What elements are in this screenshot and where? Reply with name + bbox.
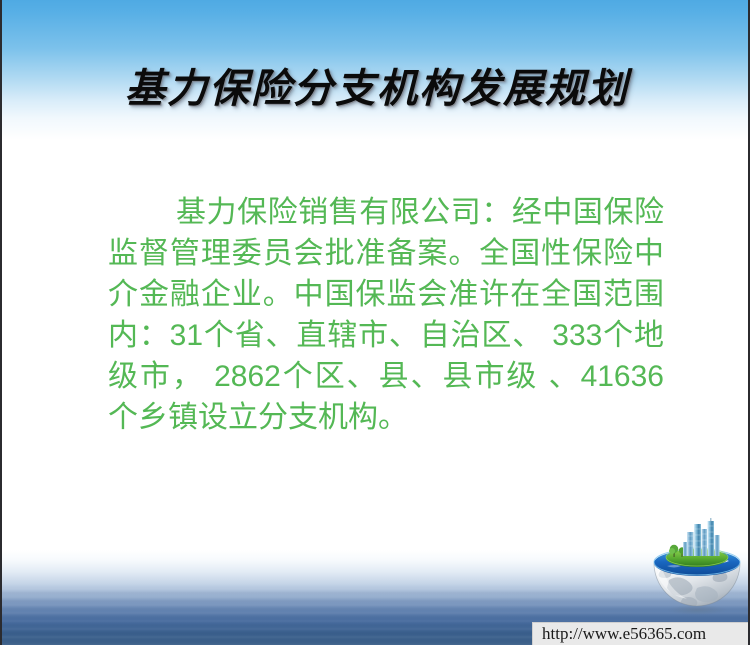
slide-title: 基力保险分支机构发展规划 [2, 56, 750, 114]
slide-body-text: 基力保险销售有限公司：经中国保险监督管理委员会批准备案。全国性保险中介金融企业。… [108, 192, 664, 438]
watermark-url: http://www.e56365.com [542, 624, 706, 644]
presentation-slide: 基力保险分支机构发展规划 基力保险销售有限公司：经中国保险监督管理委员会批准备案… [0, 0, 750, 645]
watermark-badge: http://www.e56365.com [532, 622, 750, 645]
globe-city-logo [647, 518, 747, 618]
globe-city-icon [647, 518, 747, 618]
